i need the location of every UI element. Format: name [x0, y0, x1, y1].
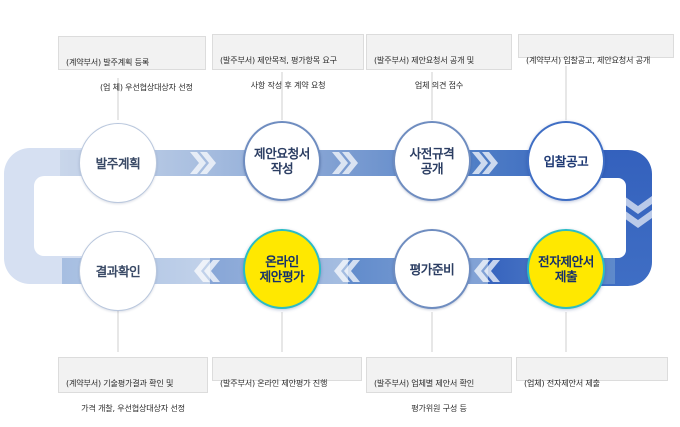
note-line-1: (발주부서) 제안목적, 평가항목 요구 — [220, 54, 356, 67]
flow-node-jeonja-jeanseo-jechul[interactable]: 전자제안서 제출 — [527, 229, 605, 309]
flow-node-label: 제안요청서 작성 — [254, 146, 310, 176]
note-line-2: 업체 의견 접수 — [374, 79, 504, 92]
note-sajeon-gyugyeok-gonggae: (발주부서) 제안요청서 공개 및 업체 의견 접수 — [366, 34, 512, 70]
note-line-2: 평가위원 구성 등 — [374, 402, 504, 415]
flow-node-jean-yocheongseo-jakseong[interactable]: 제안요청서 작성 — [243, 121, 321, 201]
note-line-1: (발주부서) 온라인 제안평가 진행 — [220, 377, 354, 390]
note-line-1: (발주부서) 업체별 제안서 확인 — [374, 377, 504, 390]
flow-node-label: 발주계획 — [96, 156, 141, 171]
note-line-1: (업체) 전자제안서 제출 — [524, 377, 660, 390]
note-jeonja-jeanseo-jechul: (업체) 전자제안서 제출 — [516, 357, 668, 381]
flow-node-label: 평가준비 — [410, 262, 455, 277]
flow-node-label: 입찰공고 — [544, 154, 589, 169]
note-line-2: 사항 작성 후 계약 요청 — [220, 79, 356, 92]
note-pyeongga-junbi: (발주부서) 업체별 제안서 확인 평가위원 구성 등 — [366, 357, 512, 393]
note-balju-gyehoek: (계약부서) 발주계획 등록 (업 체) 우선협상대상자 선정 — [58, 36, 206, 70]
flow-node-label: 사전규격 공개 — [410, 146, 455, 176]
note-line-1: (계약부서) 발주계획 등록 — [66, 56, 198, 69]
flow-node-balju-gyehoek[interactable]: 발주계획 — [79, 123, 157, 203]
note-line-1: (계약부서) 입찰공고, 제안요청서 공개 — [526, 54, 666, 67]
note-line-1: (계약부서) 기술평가결과 확인 및 — [66, 377, 200, 390]
flow-node-pyeongga-junbi[interactable]: 평가준비 — [393, 229, 471, 309]
note-leader-lines — [118, 66, 566, 352]
flow-node-label: 결과확인 — [96, 264, 141, 279]
note-ipchal-gonggo: (계약부서) 입찰공고, 제안요청서 공개 — [518, 34, 674, 58]
flow-node-sajeon-gyugyeok-gonggae[interactable]: 사전규격 공개 — [393, 121, 471, 201]
flow-node-label: 전자제안서 제출 — [538, 254, 594, 284]
note-line-2: 가격 개찰, 우선협상대상자 선정 — [66, 402, 200, 415]
note-online-jean-pyeongga: (발주부서) 온라인 제안평가 진행 — [212, 357, 362, 381]
flow-node-online-jean-pyeongga[interactable]: 온라인 제안평가 — [243, 229, 321, 309]
note-line-2: (업 체) 우선협상대상자 선정 — [66, 81, 198, 94]
note-line-1: (발주부서) 제안요청서 공개 및 — [374, 54, 504, 67]
note-jean-yocheongseo-jakseong: (발주부서) 제안목적, 평가항목 요구 사항 작성 후 계약 요청 — [212, 34, 364, 70]
note-gyeolgwa-hwagin: (계약부서) 기술평가결과 확인 및 가격 개찰, 우선협상대상자 선정 — [58, 357, 208, 393]
flow-node-label: 온라인 제안평가 — [260, 254, 305, 284]
flow-node-ipchal-gonggo[interactable]: 입찰공고 — [527, 121, 605, 201]
flow-node-gyeolgwa-hwagin[interactable]: 결과확인 — [79, 231, 157, 311]
